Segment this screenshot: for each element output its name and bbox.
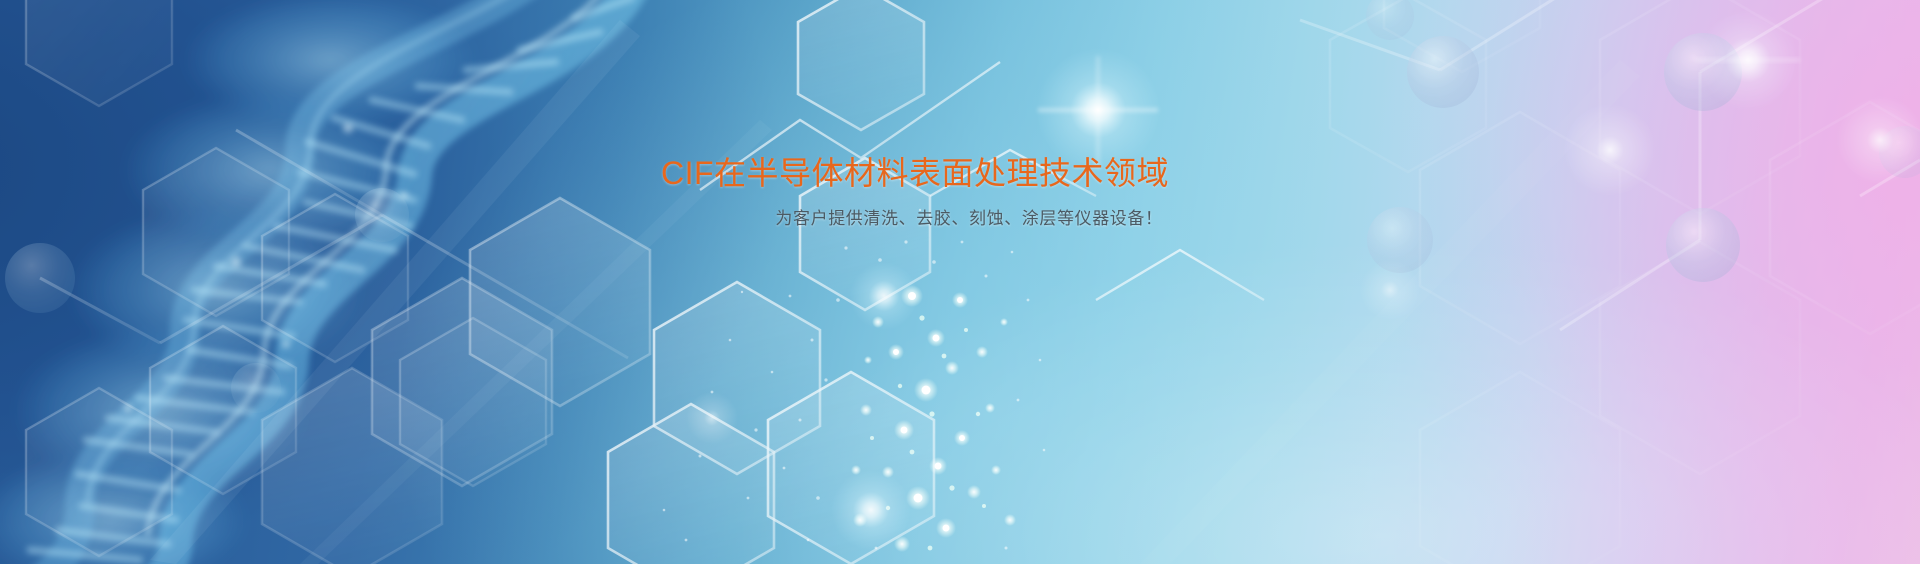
banner-subline: 为客户提供清洗、去胶、刻蚀、涂层等仪器设备！ [9,206,1920,232]
banner-headline: CIF在半导体材料表面处理技术领域 [0,152,1875,194]
banner-text-block: CIF在半导体材料表面处理技术领域 为客户提供清洗、去胶、刻蚀、涂层等仪器设备！ [0,152,1920,232]
sparkle-particles-graphic [0,0,1920,564]
hero-banner: CIF在半导体材料表面处理技术领域 为客户提供清洗、去胶、刻蚀、涂层等仪器设备！ [0,0,1920,564]
